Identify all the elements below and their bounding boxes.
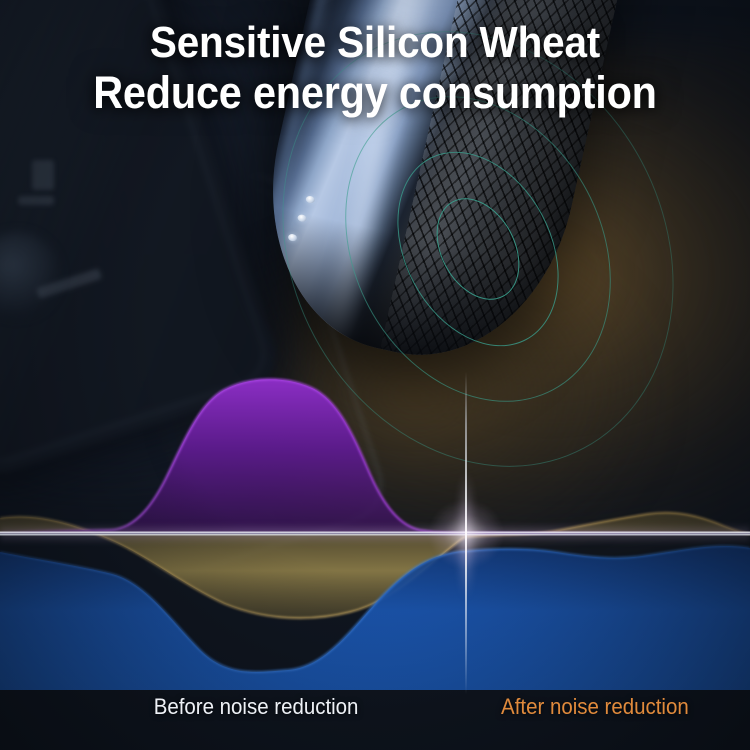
chart-baseline-axis [0,531,750,536]
product-marketing-banner: Sensitive Silicon Wheat Reduce energy co… [0,0,750,750]
caption-after-noise-reduction: After noise reduction [501,694,689,720]
headline-line-2: Reduce energy consumption [30,68,720,118]
chart-legend: Before noise reduction After noise reduc… [0,694,750,734]
series-purple-fill [0,379,750,534]
headline-line-1: Sensitive Silicon Wheat [150,18,600,67]
caption-before-noise-reduction: Before noise reduction [154,694,359,720]
axis-intersection-flare [429,500,503,568]
headline: Sensitive Silicon Wheat Reduce energy co… [30,18,720,118]
